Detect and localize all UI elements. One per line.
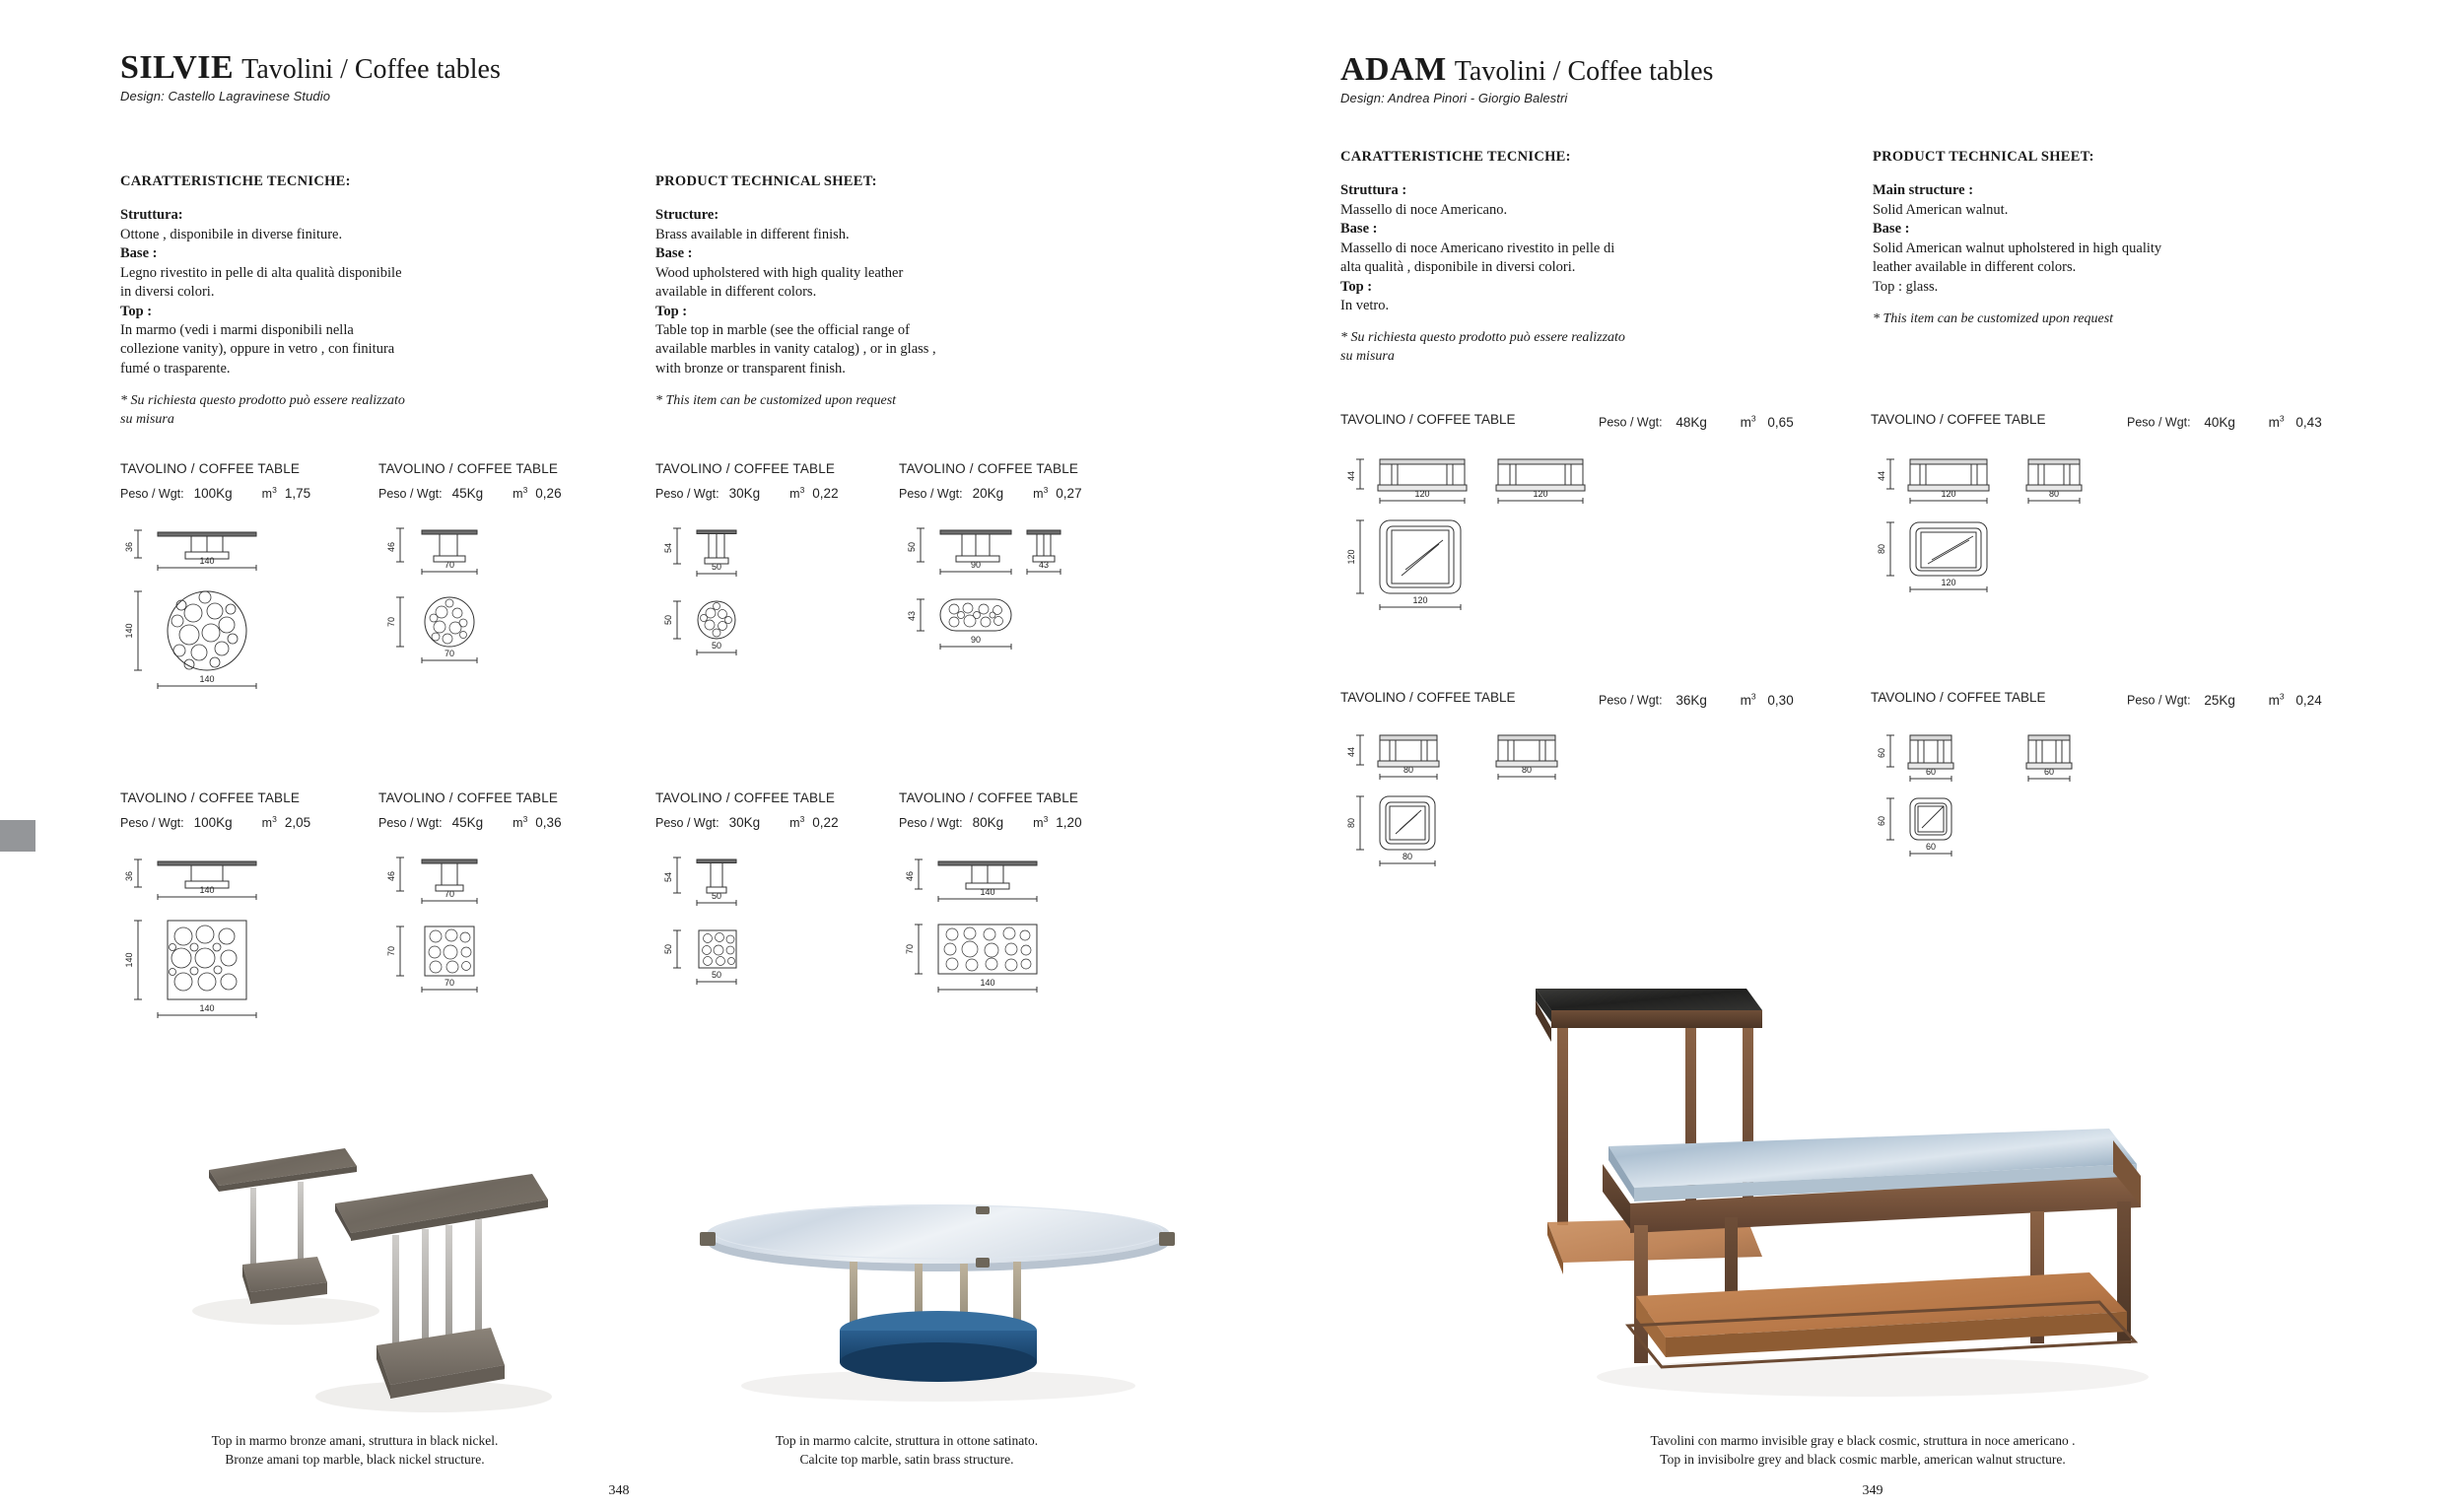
svg-text:70: 70 bbox=[445, 889, 454, 899]
svg-text:140: 140 bbox=[124, 624, 134, 639]
spec-label: Structure: bbox=[655, 207, 719, 223]
volume-unit: m3 bbox=[262, 814, 277, 830]
drawing-figure: 36 140 140 140 bbox=[120, 844, 310, 1041]
drawing-title: TAVOLINO / COFFEE TABLE bbox=[378, 790, 562, 805]
volume-unit: m3 bbox=[2269, 415, 2285, 430]
svg-text:36: 36 bbox=[124, 542, 134, 552]
volume-unit: m3 bbox=[789, 485, 804, 501]
svg-text:50: 50 bbox=[907, 542, 917, 552]
page-number-left: 348 bbox=[580, 1483, 658, 1499]
silvie-spec-italian: CARATTERISTICHE TECNICHE: Struttura: Ott… bbox=[120, 172, 406, 430]
svg-text:140: 140 bbox=[980, 887, 994, 897]
spec-text: Legno rivestito in pelle di alta qualità… bbox=[120, 264, 406, 303]
svg-text:140: 140 bbox=[124, 953, 134, 968]
volume-unit: m3 bbox=[262, 485, 277, 501]
spec-text: glass. bbox=[1906, 279, 1939, 295]
spec-label: Top : bbox=[655, 304, 687, 319]
volume-unit: m3 bbox=[1741, 415, 1756, 430]
volume-value: 0,26 bbox=[535, 486, 561, 501]
silvie-brand-title: SILVIE bbox=[120, 49, 234, 87]
spec-label-top: Top : bbox=[1873, 279, 1902, 295]
svg-text:36: 36 bbox=[124, 871, 134, 881]
silvie-designer-credit: Design: Castello Lagravinese Studio bbox=[120, 89, 501, 103]
adam-drawing-4-meta: Peso / Wgt: 25Kg m3 0,24 bbox=[2127, 691, 2322, 708]
silvie-drawing-6: TAVOLINO / COFFEE TABLE Peso / Wgt:45Kgm… bbox=[378, 790, 562, 1041]
silvie-drawing-3: TAVOLINO / COFFEE TABLE Peso / Wgt:30Kgm… bbox=[655, 461, 839, 712]
drawing-meta: Peso / Wgt:45Kgm30,26 bbox=[378, 485, 562, 501]
spec-text: Solid American walnut upholstered in hig… bbox=[1873, 240, 2168, 278]
silvie-drawing-1: TAVOLINO / COFFEE TABLE Peso / Wgt:100Kg… bbox=[120, 461, 310, 712]
svg-text:60: 60 bbox=[2044, 767, 2054, 777]
svg-text:140: 140 bbox=[199, 885, 214, 895]
svg-text:60: 60 bbox=[1926, 842, 1936, 852]
drawing-meta: Peso / Wgt:20Kgm30,27 bbox=[899, 485, 1096, 501]
spec-text: Massello di noce Americano. bbox=[1340, 201, 1636, 220]
drawing-meta: Peso / Wgt:45Kgm30,36 bbox=[378, 814, 562, 830]
drawing-figure: 36 140 140 140 bbox=[120, 514, 310, 712]
drawing-figure: 54 50 50 50 bbox=[655, 844, 839, 1041]
adam-drawing-3-title: TAVOLINO / COFFEE TABLE bbox=[1340, 690, 1516, 705]
weight-label: Peso / Wgt: bbox=[378, 816, 443, 830]
svg-text:44: 44 bbox=[1877, 471, 1886, 481]
svg-text:50: 50 bbox=[712, 891, 721, 901]
svg-text:54: 54 bbox=[663, 543, 673, 553]
caption-english: Calcite top marble, satin brass structur… bbox=[670, 1450, 1143, 1469]
svg-text:90: 90 bbox=[971, 560, 981, 570]
svg-text:140: 140 bbox=[980, 978, 994, 988]
adam-spec-italian-title: CARATTERISTICHE TECNICHE: bbox=[1340, 148, 1636, 167]
weight-value: 100Kg bbox=[194, 486, 233, 501]
svg-text:46: 46 bbox=[386, 871, 396, 881]
drawing-meta: Peso / Wgt:100Kgm32,05 bbox=[120, 814, 310, 830]
silvie-spec-italian-title: CARATTERISTICHE TECNICHE: bbox=[120, 172, 406, 191]
svg-text:54: 54 bbox=[663, 872, 673, 882]
weight-value: 30Kg bbox=[729, 486, 761, 501]
adam-designer-credit: Design: Andrea Pinori - Giorgio Balestri bbox=[1340, 91, 1713, 105]
spec-text: Wood upholstered with high quality leath… bbox=[655, 264, 951, 303]
volume-unit: m3 bbox=[1741, 693, 1756, 708]
volume-value: 0,24 bbox=[2295, 693, 2321, 708]
spec-text: In vetro. bbox=[1340, 297, 1636, 315]
svg-text:50: 50 bbox=[663, 615, 673, 625]
svg-text:60: 60 bbox=[1877, 816, 1886, 826]
svg-text:70: 70 bbox=[445, 649, 454, 658]
svg-text:120: 120 bbox=[1941, 489, 1955, 499]
volume-unit: m3 bbox=[1033, 485, 1048, 501]
drawing-title: TAVOLINO / COFFEE TABLE bbox=[120, 461, 310, 476]
weight-label: Peso / Wgt: bbox=[655, 816, 719, 830]
drawing-title: TAVOLINO / COFFEE TABLE bbox=[655, 461, 839, 476]
adam-drawing-1: 44 120 120 120 120 bbox=[1340, 446, 1666, 628]
weight-label: Peso / Wgt: bbox=[120, 816, 184, 830]
silvie-drawing-5: TAVOLINO / COFFEE TABLE Peso / Wgt:100Kg… bbox=[120, 790, 310, 1041]
volume-value: 1,75 bbox=[285, 486, 310, 501]
volume-unit: m3 bbox=[789, 814, 804, 830]
volume-value: 0,30 bbox=[1767, 693, 1793, 708]
spec-text: Massello di noce Americano rivestito in … bbox=[1340, 240, 1636, 278]
svg-text:70: 70 bbox=[905, 944, 915, 954]
drawing-meta: Peso / Wgt:100Kgm31,75 bbox=[120, 485, 310, 501]
svg-text:140: 140 bbox=[199, 674, 214, 684]
caption-italian: Tavolini con marmo invisible gray e blac… bbox=[1528, 1431, 2198, 1450]
weight-value: 30Kg bbox=[729, 815, 761, 830]
spec-label: Top : bbox=[120, 304, 152, 319]
spec-text: Brass available in different finish. bbox=[655, 226, 951, 244]
silvie-photo-round-table bbox=[680, 1193, 1193, 1429]
volume-unit: m3 bbox=[513, 814, 527, 830]
adam-drawing-1-title: TAVOLINO / COFFEE TABLE bbox=[1340, 412, 1516, 427]
silvie-spec-english-title: PRODUCT TECHNICAL SHEET: bbox=[655, 172, 951, 191]
svg-text:43: 43 bbox=[907, 611, 917, 621]
adam-custom-note-english: * This item can be customized upon reque… bbox=[1873, 310, 2168, 329]
adam-custom-note-italian: * Su richiesta questo prodotto può esser… bbox=[1340, 329, 1636, 367]
weight-value: 45Kg bbox=[452, 486, 484, 501]
svg-text:140: 140 bbox=[199, 556, 214, 566]
svg-text:60: 60 bbox=[1877, 748, 1886, 758]
silvie-drawing-2: TAVOLINO / COFFEE TABLE Peso / Wgt:45Kgm… bbox=[378, 461, 562, 712]
weight-value: 40Kg bbox=[2204, 415, 2235, 430]
adam-spec-english-title: PRODUCT TECHNICAL SHEET: bbox=[1873, 148, 2168, 167]
adam-spec-english: PRODUCT TECHNICAL SHEET: Main structure … bbox=[1873, 148, 2168, 329]
spec-text: Solid American walnut. bbox=[1873, 201, 2168, 220]
drawing-title: TAVOLINO / COFFEE TABLE bbox=[378, 461, 562, 476]
caption-english: Top in invisibolre grey and black cosmic… bbox=[1528, 1450, 2198, 1469]
adam-drawing-3: 44 80 80 80 80 bbox=[1340, 723, 1666, 896]
volume-unit: m3 bbox=[513, 485, 527, 501]
silvie-drawing-7: TAVOLINO / COFFEE TABLE Peso / Wgt:30Kgm… bbox=[655, 790, 839, 1041]
weight-label: Peso / Wgt: bbox=[120, 487, 184, 501]
silvie-category-title: Tavolini / Coffee tables bbox=[241, 54, 501, 86]
caption-english: Bronze amani top marble, black nickel st… bbox=[128, 1450, 582, 1469]
chapter-edge-tab bbox=[0, 820, 35, 852]
svg-text:80: 80 bbox=[1403, 765, 1413, 775]
svg-text:50: 50 bbox=[663, 944, 673, 954]
silvie-custom-note-english: * This item can be customized upon reque… bbox=[655, 392, 951, 411]
volume-value: 0,65 bbox=[1767, 415, 1793, 430]
weight-label: Peso / Wgt: bbox=[2127, 416, 2191, 430]
drawing-meta: Peso / Wgt:80Kgm31,20 bbox=[899, 814, 1086, 830]
page-left: SILVIETavolini / Coffee tables Design: C… bbox=[0, 0, 1232, 1509]
svg-text:60: 60 bbox=[1926, 767, 1936, 777]
weight-value: 20Kg bbox=[973, 486, 1004, 501]
volume-value: 0,43 bbox=[2295, 415, 2321, 430]
caption-italian: Top in marmo calcite, struttura in otton… bbox=[670, 1431, 1143, 1450]
silvie-photo-square-tables bbox=[148, 1109, 591, 1424]
svg-text:120: 120 bbox=[1412, 595, 1427, 605]
drawing-title: TAVOLINO / COFFEE TABLE bbox=[899, 790, 1086, 805]
weight-label: Peso / Wgt: bbox=[655, 487, 719, 501]
weight-label: Peso / Wgt: bbox=[899, 816, 963, 830]
adam-drawing-1-meta: Peso / Wgt: 48Kg m3 0,65 bbox=[1599, 413, 1794, 430]
spec-label: Base : bbox=[655, 245, 692, 261]
adam-category-title: Tavolini / Coffee tables bbox=[1455, 56, 1714, 88]
weight-value: 100Kg bbox=[194, 815, 233, 830]
silvie-drawing-8: TAVOLINO / COFFEE TABLE Peso / Wgt:80Kgm… bbox=[899, 790, 1086, 1041]
volume-value: 0,27 bbox=[1056, 486, 1081, 501]
drawing-figure: 46 70 70 70 bbox=[378, 844, 562, 1041]
svg-text:50: 50 bbox=[712, 641, 721, 651]
svg-text:70: 70 bbox=[386, 946, 396, 956]
drawing-title: TAVOLINO / COFFEE TABLE bbox=[899, 461, 1096, 476]
spec-text: Ottone , disponibile in diverse finiture… bbox=[120, 226, 406, 244]
svg-text:90: 90 bbox=[971, 635, 981, 645]
page-number-right: 349 bbox=[1833, 1483, 1912, 1499]
volume-value: 1,20 bbox=[1056, 815, 1081, 830]
page-right: ADAMTavolini / Coffee tables Design: And… bbox=[1232, 0, 2464, 1509]
svg-text:80: 80 bbox=[1346, 818, 1356, 828]
weight-value: 45Kg bbox=[452, 815, 484, 830]
volume-value: 0,22 bbox=[812, 815, 838, 830]
adam-caption: Tavolini con marmo invisible gray e blac… bbox=[1528, 1431, 2198, 1469]
weight-value: 36Kg bbox=[1676, 693, 1707, 708]
drawing-title: TAVOLINO / COFFEE TABLE bbox=[120, 790, 310, 805]
drawing-figure: 46 70 70 70 bbox=[378, 514, 562, 712]
svg-text:120: 120 bbox=[1346, 549, 1356, 564]
weight-label: Peso / Wgt: bbox=[1599, 694, 1663, 708]
drawing-figure: 50 90 43 43 90 bbox=[899, 514, 1096, 712]
adam-brand-title: ADAM bbox=[1340, 51, 1447, 89]
svg-text:80: 80 bbox=[1522, 765, 1532, 775]
adam-drawing-3-meta: Peso / Wgt: 36Kg m3 0,30 bbox=[1599, 691, 1794, 708]
svg-text:46: 46 bbox=[386, 542, 396, 552]
spec-label: Top : bbox=[1340, 279, 1372, 295]
weight-value: 80Kg bbox=[973, 815, 1004, 830]
volume-value: 0,22 bbox=[812, 486, 838, 501]
svg-text:43: 43 bbox=[1039, 560, 1049, 570]
svg-text:70: 70 bbox=[386, 617, 396, 627]
svg-text:44: 44 bbox=[1346, 471, 1356, 481]
adam-drawing-2-title: TAVOLINO / COFFEE TABLE bbox=[1871, 412, 2046, 427]
weight-value: 48Kg bbox=[1676, 415, 1707, 430]
silvie-drawing-4: TAVOLINO / COFFEE TABLE Peso / Wgt:20Kgm… bbox=[899, 461, 1096, 712]
adam-spec-italian: CARATTERISTICHE TECNICHE: Struttura : Ma… bbox=[1340, 148, 1636, 367]
weight-label: Peso / Wgt: bbox=[2127, 694, 2191, 708]
svg-text:120: 120 bbox=[1941, 578, 1955, 587]
volume-value: 2,05 bbox=[285, 815, 310, 830]
svg-text:80: 80 bbox=[1403, 852, 1412, 861]
silvie-caption-left: Top in marmo bronze amani, struttura in … bbox=[128, 1431, 582, 1469]
caption-italian: Top in marmo bronze amani, struttura in … bbox=[128, 1431, 582, 1450]
svg-text:120: 120 bbox=[1414, 489, 1429, 499]
adam-page-header: ADAMTavolini / Coffee tables Design: And… bbox=[1340, 51, 1713, 105]
silvie-custom-note-italian: * Su richiesta questo prodotto può esser… bbox=[120, 392, 406, 430]
spec-text: Table top in marble (see the official ra… bbox=[655, 321, 951, 378]
svg-text:70: 70 bbox=[445, 560, 454, 570]
drawing-meta: Peso / Wgt:30Kgm30,22 bbox=[655, 814, 839, 830]
adam-drawing-2: 44 120 80 80 120 bbox=[1871, 446, 2196, 628]
drawing-meta: Peso / Wgt:30Kgm30,22 bbox=[655, 485, 839, 501]
drawing-figure: 54 50 50 50 bbox=[655, 514, 839, 712]
svg-text:44: 44 bbox=[1346, 747, 1356, 757]
svg-text:140: 140 bbox=[199, 1003, 214, 1013]
svg-text:80: 80 bbox=[1877, 544, 1886, 554]
weight-label: Peso / Wgt: bbox=[1599, 416, 1663, 430]
svg-text:46: 46 bbox=[905, 871, 915, 881]
spec-label: Main structure : bbox=[1873, 182, 1973, 198]
weight-label: Peso / Wgt: bbox=[378, 487, 443, 501]
silvie-page-header: SILVIETavolini / Coffee tables Design: C… bbox=[120, 49, 501, 103]
drawing-title: TAVOLINO / COFFEE TABLE bbox=[655, 790, 839, 805]
spec-label: Base : bbox=[1873, 221, 1909, 237]
weight-value: 25Kg bbox=[2204, 693, 2235, 708]
silvie-caption-right: Top in marmo calcite, struttura in otton… bbox=[670, 1431, 1143, 1469]
adam-drawing-4: 60 60 60 60 60 bbox=[1871, 723, 2196, 896]
svg-text:120: 120 bbox=[1533, 489, 1547, 499]
spec-label: Base : bbox=[1340, 221, 1377, 237]
volume-value: 0,36 bbox=[535, 815, 561, 830]
silvie-spec-english: PRODUCT TECHNICAL SHEET: Structure: Bras… bbox=[655, 172, 951, 411]
spec-text: In marmo (vedi i marmi disponibili nella… bbox=[120, 321, 406, 378]
spec-label: Struttura: bbox=[120, 207, 183, 223]
adam-drawing-4-title: TAVOLINO / COFFEE TABLE bbox=[1871, 690, 2046, 705]
svg-text:50: 50 bbox=[712, 970, 721, 980]
spec-label: Base : bbox=[120, 245, 157, 261]
adam-drawing-2-meta: Peso / Wgt: 40Kg m3 0,43 bbox=[2127, 413, 2322, 430]
svg-text:50: 50 bbox=[712, 562, 721, 572]
svg-text:70: 70 bbox=[445, 978, 454, 988]
volume-unit: m3 bbox=[1033, 814, 1048, 830]
drawing-figure: 46 140 70 140 bbox=[899, 844, 1086, 1041]
adam-photo-tables bbox=[1518, 971, 2208, 1414]
volume-unit: m3 bbox=[2269, 693, 2285, 708]
svg-text:80: 80 bbox=[2049, 489, 2059, 499]
weight-label: Peso / Wgt: bbox=[899, 487, 963, 501]
spec-label: Struttura : bbox=[1340, 182, 1406, 198]
